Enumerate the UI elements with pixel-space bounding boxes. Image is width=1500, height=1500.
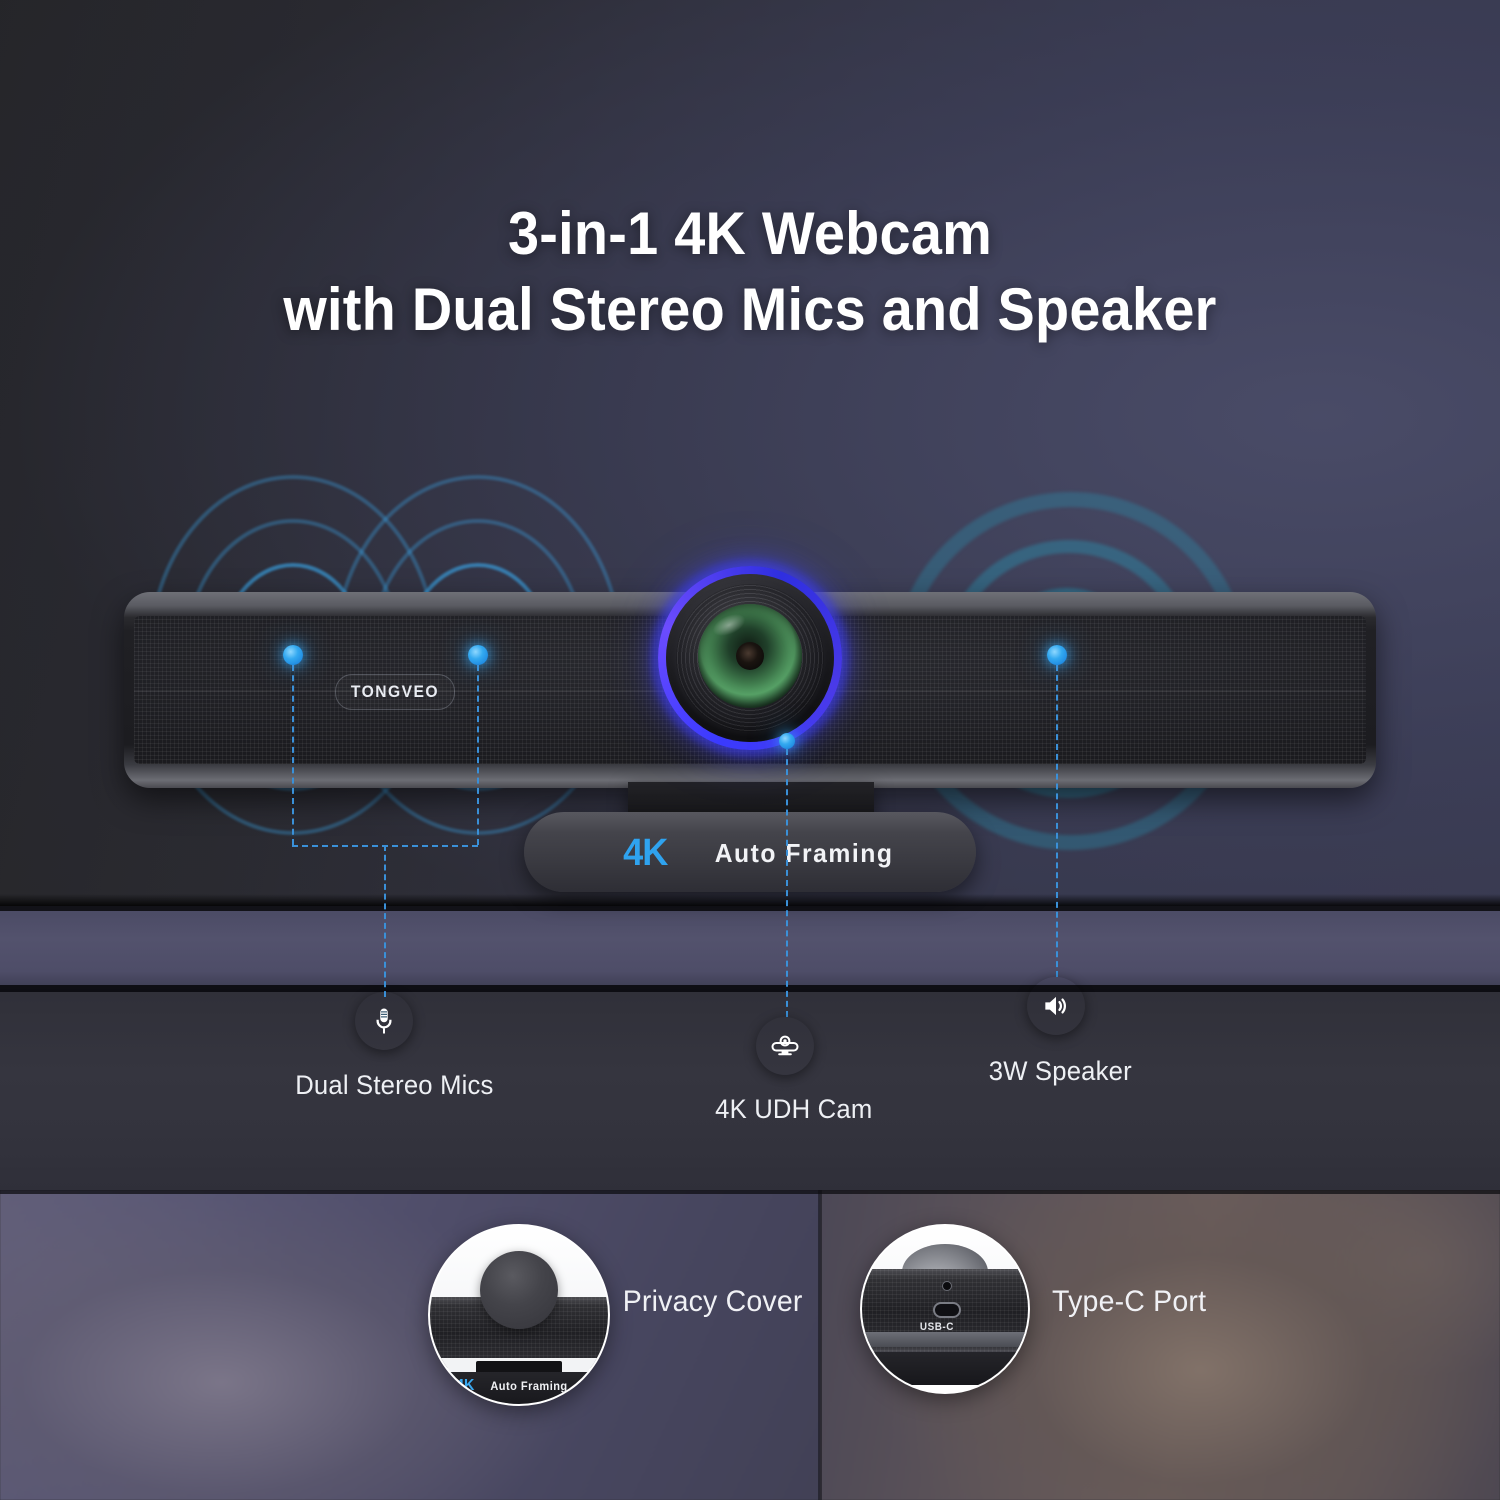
privacy-cover-auto-framing-text: Auto Framing — [490, 1379, 567, 1393]
privacy-cover-4k-text: 4K — [456, 1377, 474, 1395]
webcam-icon — [756, 1017, 814, 1075]
callout-image-type-c-port: USB-C — [860, 1224, 1030, 1394]
badge-4k-text: 4K — [623, 832, 667, 875]
photo-person-left — [0, 1190, 820, 1500]
callout-label-privacy-cover: Privacy Cover — [623, 1285, 803, 1319]
camera-lens — [650, 558, 850, 758]
type-c-connector — [933, 1302, 960, 1318]
type-c-lower-trim — [860, 1332, 1030, 1347]
feature-label-dual-stereo-mics: Dual Stereo Mics — [295, 1070, 493, 1101]
badge-auto-framing-text: Auto Framing — [715, 838, 894, 869]
type-c-reset-hole — [942, 1281, 952, 1291]
mic-indicator-right — [468, 645, 488, 665]
lens-aperture — [736, 642, 764, 670]
page-title-line-1: 3-in-1 4K Webcam — [508, 200, 992, 267]
brand-logo-text: TONGVEO — [351, 682, 439, 702]
feature-label-3w-speaker: 3W Speaker — [989, 1056, 1132, 1087]
leader-line-mic-left — [292, 665, 294, 845]
mic-indicator-left — [283, 645, 303, 665]
feature-4k-udh-cam — [756, 1017, 814, 1075]
callout-image-privacy-cover: 4K Auto Framing — [428, 1224, 610, 1406]
leader-line-speaker — [1056, 665, 1058, 977]
background-desk-band — [0, 906, 1500, 992]
feature-label-4k-udh-cam: 4K UDH Cam — [715, 1094, 872, 1125]
photo-top-edge — [0, 1190, 1500, 1194]
background-lower-band — [0, 992, 1500, 1190]
speaker-icon — [1027, 977, 1085, 1035]
bottom-photo-strip — [0, 1190, 1500, 1500]
photo-divider — [818, 1190, 822, 1500]
speaker-indicator-dot — [1047, 645, 1067, 665]
leader-line-mic-drop — [384, 845, 386, 997]
microphone-icon — [355, 992, 413, 1050]
page-title-line-2: with Dual Stereo Mics and Speaker — [53, 272, 1448, 348]
type-c-base — [860, 1352, 1030, 1385]
brand-logo: TONGVEO — [335, 674, 455, 710]
type-c-port-label: USB-C — [920, 1321, 954, 1333]
leader-line-mic-right — [477, 665, 479, 845]
privacy-cover-knob — [480, 1251, 558, 1329]
camera-indicator-dot — [779, 733, 795, 749]
page-title: 3-in-1 4K Webcam with Dual Stereo Mics a… — [53, 196, 1448, 348]
infographic-canvas: 3-in-1 4K Webcam with Dual Stereo Mics a… — [0, 0, 1500, 1500]
auto-framing-badge: 4K Auto Framing — [524, 812, 976, 892]
callout-label-type-c-port: Type-C Port — [1052, 1285, 1206, 1319]
feature-dual-stereo-mics — [355, 992, 413, 1050]
feature-3w-speaker — [1027, 977, 1085, 1035]
leader-line-camera — [786, 749, 788, 1017]
